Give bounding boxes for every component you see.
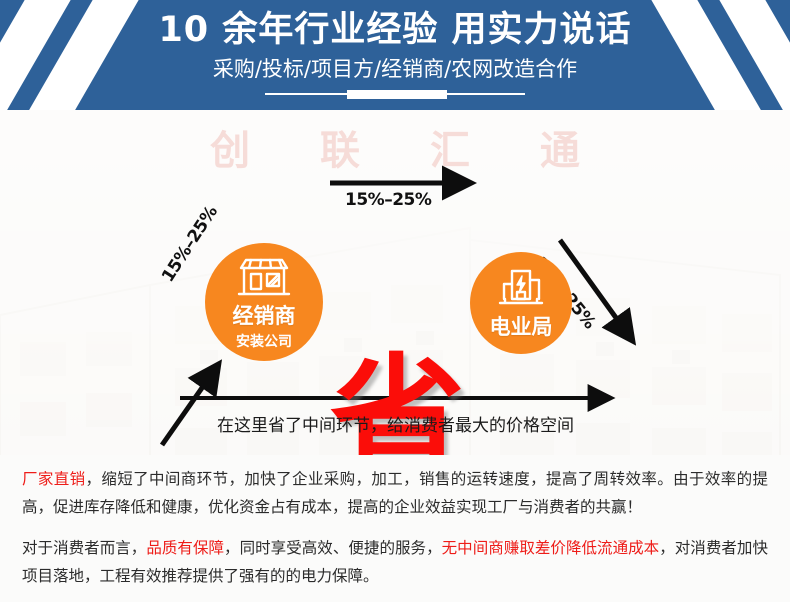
bottom-arrow-caption: 在这里省了中间环节，给消费者最大的价格空间: [178, 411, 613, 436]
footer-highlight-direct-sales: 厂家直销: [22, 470, 86, 488]
background-watermark: 创 联 汇 通: [0, 118, 790, 176]
footer-paragraph-2-middle: ，同时享受高效、便捷的服务，: [224, 539, 442, 557]
footer-paragraph-2: 对于消费者而言，品质有保障，同时享受高效、便捷的服务，无中间商赚取差价降低流通成…: [22, 534, 768, 590]
power-building-icon: [497, 268, 545, 308]
header-subtitle: 采购/投标/项目方/经销商/农网改造合作: [0, 56, 790, 82]
footer-highlight-no-middleman: 无中间商赚取差价降低流通成本: [442, 539, 660, 557]
center-save-character: 省: [330, 352, 465, 455]
header-divider: [265, 90, 525, 99]
flow-diagram: 创 联 汇 通 15%–25% 15%–25% 15%–25% 省 在这里省了中…: [0, 110, 790, 455]
node-dealer-sublabel: 安装公司: [236, 331, 292, 351]
arrow-label-dealer-to-bureau: 15%–25%: [345, 190, 431, 210]
footer-paragraph-1: 厂家直销，缩短了中间商环节，加快了企业采购，加工，销售的运转速度，提高了周转效率…: [22, 465, 768, 521]
header-banner: 10 余年行业经验 用实力说话 采购/投标/项目方/经销商/农网改造合作: [0, 0, 790, 110]
footer-paragraph-1-rest: ，缩短了中间商环节，加快了企业采购，加工，销售的运转速度，提高了周转效率。由于效…: [22, 470, 768, 516]
promo-infographic: 10 余年行业经验 用实力说话 采购/投标/项目方/经销商/农网改造合作: [0, 0, 790, 602]
node-power-bureau-label: 电业局: [490, 311, 553, 341]
header-divider-center: [347, 90, 447, 99]
node-dealer[interactable]: 经销商 安装公司: [205, 243, 323, 361]
node-dealer-label: 经销商: [233, 300, 296, 330]
storefront-icon: [237, 257, 291, 297]
header-title: 10 余年行业经验 用实力说话: [0, 8, 790, 52]
node-power-bureau[interactable]: 电业局: [470, 252, 572, 354]
footer-description: 厂家直销，缩短了中间商环节，加快了企业采购，加工，销售的运转速度，提高了周转效率…: [0, 455, 790, 602]
footer-paragraph-2-lead: 对于消费者而言，: [22, 539, 146, 557]
footer-highlight-quality: 品质有保障: [146, 539, 224, 557]
